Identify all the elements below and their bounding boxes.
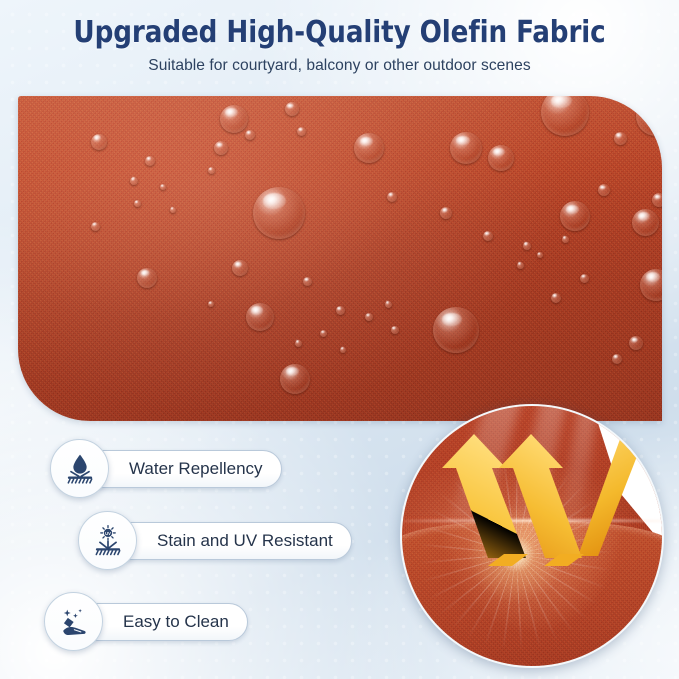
uv-ray-v-joint xyxy=(488,554,584,566)
sparkles xyxy=(63,609,81,618)
sparkle-hand-wipe-icon xyxy=(44,592,103,651)
water-droplet xyxy=(295,340,302,347)
water-droplet xyxy=(488,145,514,171)
water-droplet xyxy=(130,177,138,185)
uv-arrow-group xyxy=(402,406,662,666)
water-droplet xyxy=(160,184,166,190)
cloth-shape xyxy=(63,617,73,627)
water-droplet xyxy=(523,242,531,250)
water-droplet xyxy=(652,193,662,207)
water-droplet xyxy=(391,326,399,334)
water-droplet xyxy=(387,192,397,202)
water-droplet xyxy=(145,156,155,166)
hand-shape xyxy=(63,626,85,634)
water-droplet xyxy=(91,134,107,150)
water-droplet xyxy=(483,231,493,241)
water-droplet xyxy=(245,130,255,140)
water-droplet xyxy=(365,313,373,321)
water-droplet xyxy=(303,277,312,286)
water-droplet xyxy=(91,222,100,231)
feature-badge-easy-to-clean[interactable]: Easy to Clean xyxy=(44,592,103,651)
feature-label: Water Repellency xyxy=(129,459,263,479)
water-droplet xyxy=(354,133,384,163)
incoming-uv-ray xyxy=(578,428,648,556)
water-droplet xyxy=(246,303,274,331)
water-droplet xyxy=(208,167,215,174)
water-droplet xyxy=(580,274,589,283)
feature-badge-stain-uv-resistant[interactable]: Stain and UV Resistant UV xyxy=(78,511,137,570)
water-droplet xyxy=(285,102,299,116)
reflected-ray-left xyxy=(442,434,526,558)
page-title: Upgraded High-Quality Olefin Fabric xyxy=(15,0,663,49)
water-drop-repel-icon xyxy=(50,439,109,498)
water-droplet xyxy=(562,236,569,243)
water-droplet xyxy=(517,262,524,269)
drop-shape xyxy=(73,454,86,473)
page-subtitle: Suitable for courtyard, balcony or other… xyxy=(0,49,679,75)
water-droplet xyxy=(450,132,482,164)
water-droplet xyxy=(551,293,561,303)
surface-hatch xyxy=(96,550,119,554)
product-feature-poster: Upgraded High-Quality Olefin Fabric Suit… xyxy=(0,0,679,679)
water-droplet xyxy=(137,268,157,288)
feature-badge-water-repellency[interactable]: Water Repellency xyxy=(50,439,109,498)
water-droplet xyxy=(134,200,141,207)
fabric-shading xyxy=(18,96,662,421)
water-droplet xyxy=(336,306,345,315)
water-droplet xyxy=(170,207,176,213)
water-droplet xyxy=(220,105,248,133)
uv-sun-shield-icon: UV xyxy=(78,511,137,570)
water-droplet xyxy=(340,347,346,353)
surface-hatch xyxy=(68,479,91,483)
feature-label: Stain and UV Resistant xyxy=(157,531,333,551)
feature-label: Easy to Clean xyxy=(123,612,229,632)
uv-reflection-inset xyxy=(400,404,664,668)
water-droplet xyxy=(385,301,392,308)
feature-pill[interactable]: Water Repellency xyxy=(84,450,282,488)
water-droplet xyxy=(537,252,543,258)
water-droplet xyxy=(214,141,228,155)
uv-text: UV xyxy=(105,530,111,535)
water-droplet xyxy=(433,307,479,353)
water-droplet xyxy=(280,364,310,394)
feature-pill[interactable]: Stain and UV Resistant xyxy=(112,522,352,560)
feature-pill[interactable]: Easy to Clean xyxy=(78,603,248,641)
water-droplet xyxy=(614,132,627,145)
uv-deflect-lines xyxy=(99,541,115,547)
header: Upgraded High-Quality Olefin Fabric Suit… xyxy=(0,0,679,75)
water-droplet xyxy=(253,187,305,239)
fabric-swatch-image xyxy=(18,96,662,421)
